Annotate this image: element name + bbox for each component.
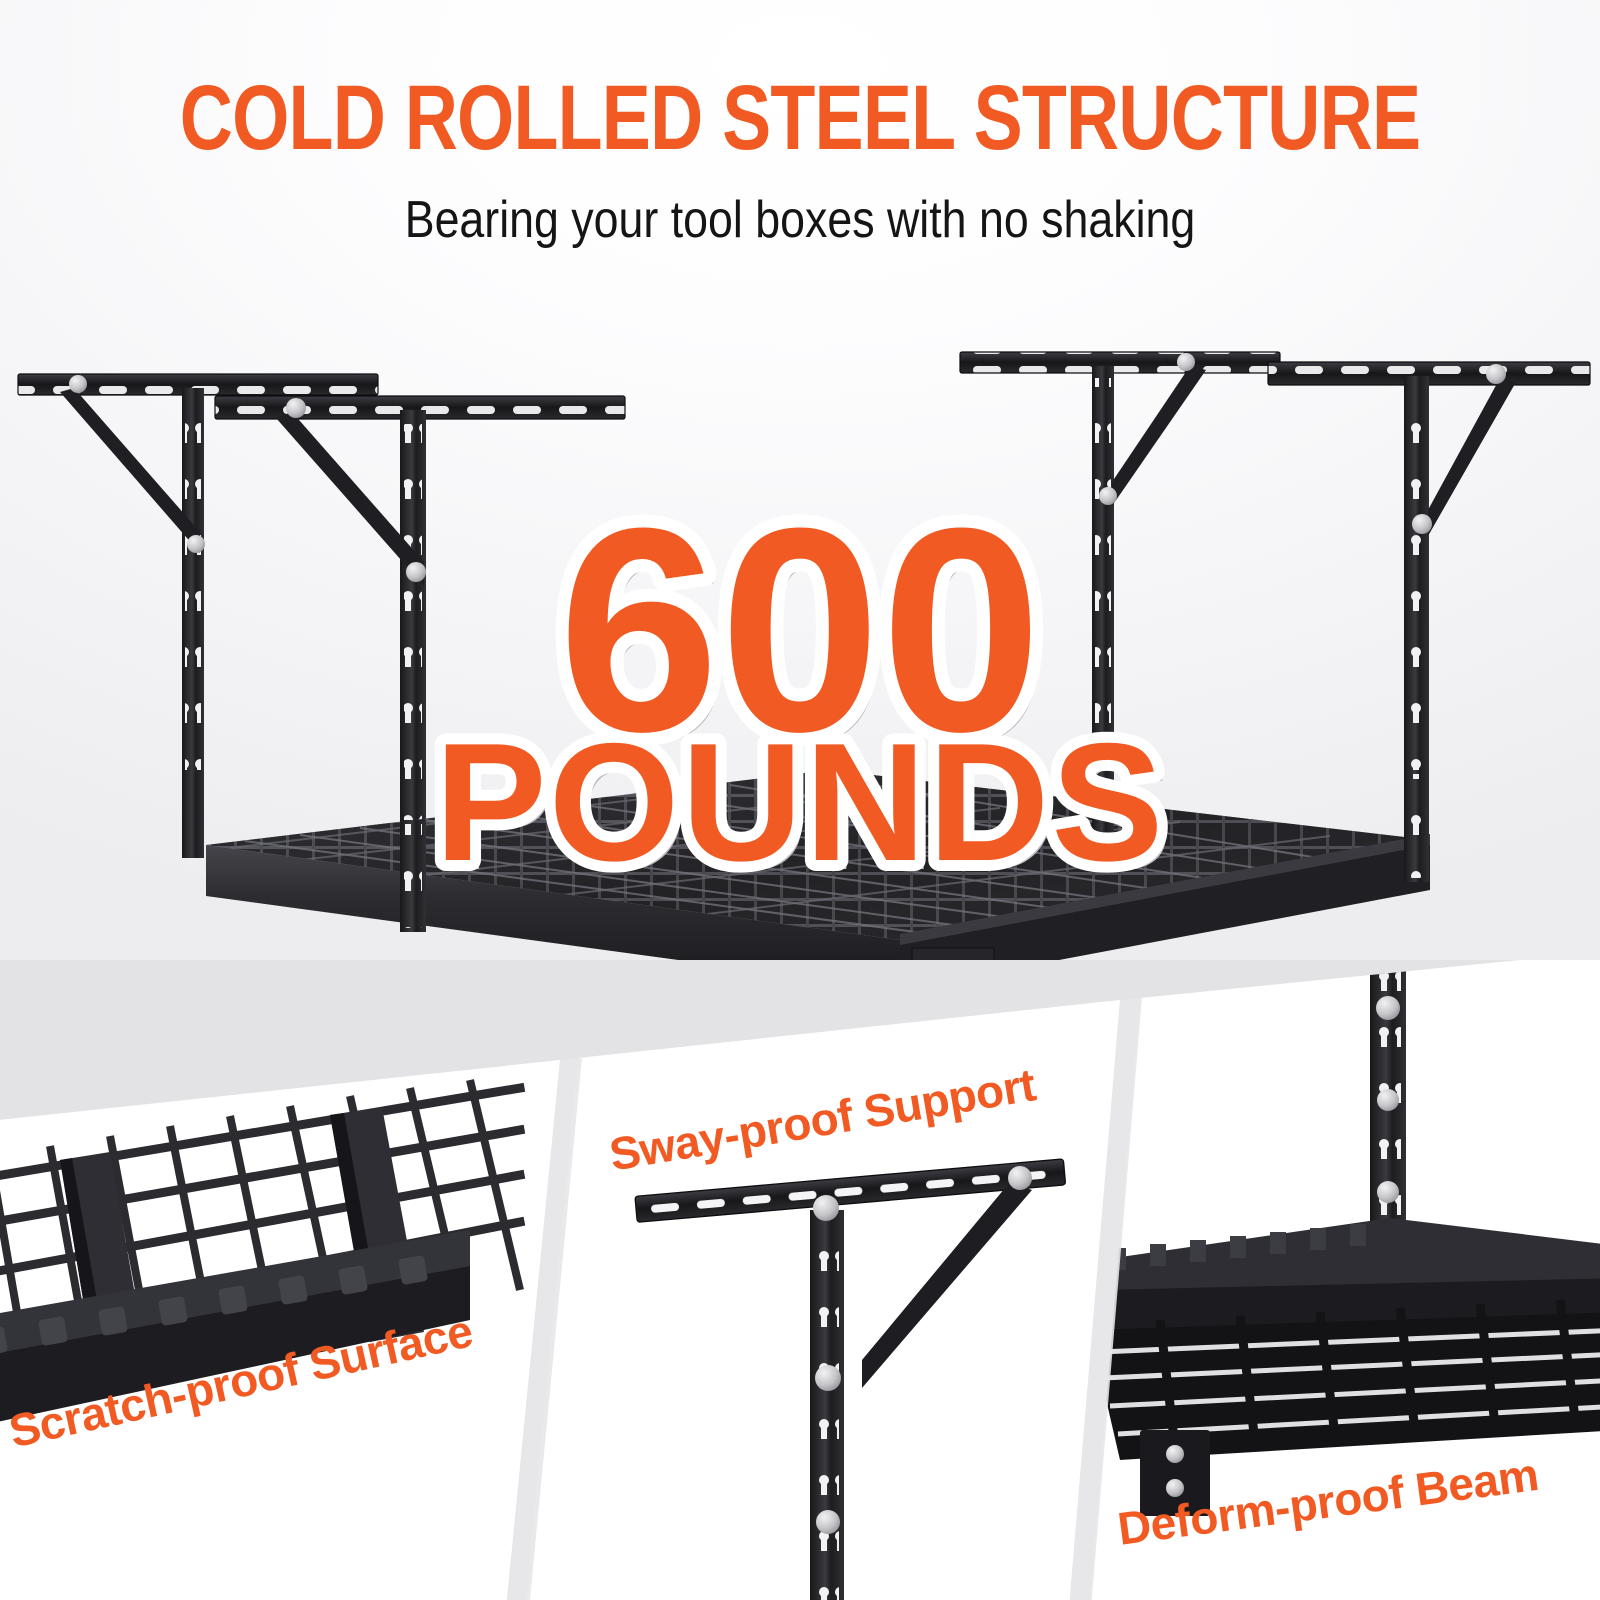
bolt: [1099, 487, 1117, 505]
bolt: [816, 1510, 840, 1534]
bolt: [286, 398, 306, 418]
page-title: COLD ROLLED STEEL STRUCTURE: [160, 0, 1440, 164]
bolt: [1166, 1445, 1184, 1463]
page-subtitle: Bearing your tool boxes with no shaking: [112, 194, 1488, 246]
bolt: [1376, 996, 1400, 1020]
bolt: [1486, 364, 1506, 384]
ceiling-rail-rear-right: [960, 352, 1280, 373]
bolt: [1412, 514, 1432, 534]
shelf-deck: [206, 770, 1430, 990]
bolt: [1008, 1166, 1032, 1190]
diagonal-brace-front-right: [1428, 378, 1516, 536]
bolt: [815, 1365, 841, 1391]
diagonal-brace-rear-left: [60, 388, 200, 553]
panel-sway-proof: [500, 960, 1160, 1600]
hero-product-image: [0, 300, 1600, 1020]
bolt: [69, 375, 87, 393]
bolt: [187, 535, 205, 553]
bolt: [1377, 1181, 1399, 1203]
bolt: [1377, 1089, 1399, 1111]
product-marketing-poster: COLD ROLLED STEEL STRUCTURE Bearing your…: [0, 0, 1600, 1600]
post-foot-rear-left: [182, 770, 204, 858]
header-block: COLD ROLLED STEEL STRUCTURE Bearing your…: [0, 0, 1600, 246]
post-foot-rear-right: [1092, 752, 1114, 854]
bolt: [406, 562, 426, 582]
vertical-post-front-left: [400, 410, 426, 890]
diagonal-brace-rear-right: [1112, 366, 1206, 506]
bolt: [813, 1195, 839, 1221]
bolt: [1177, 353, 1195, 371]
